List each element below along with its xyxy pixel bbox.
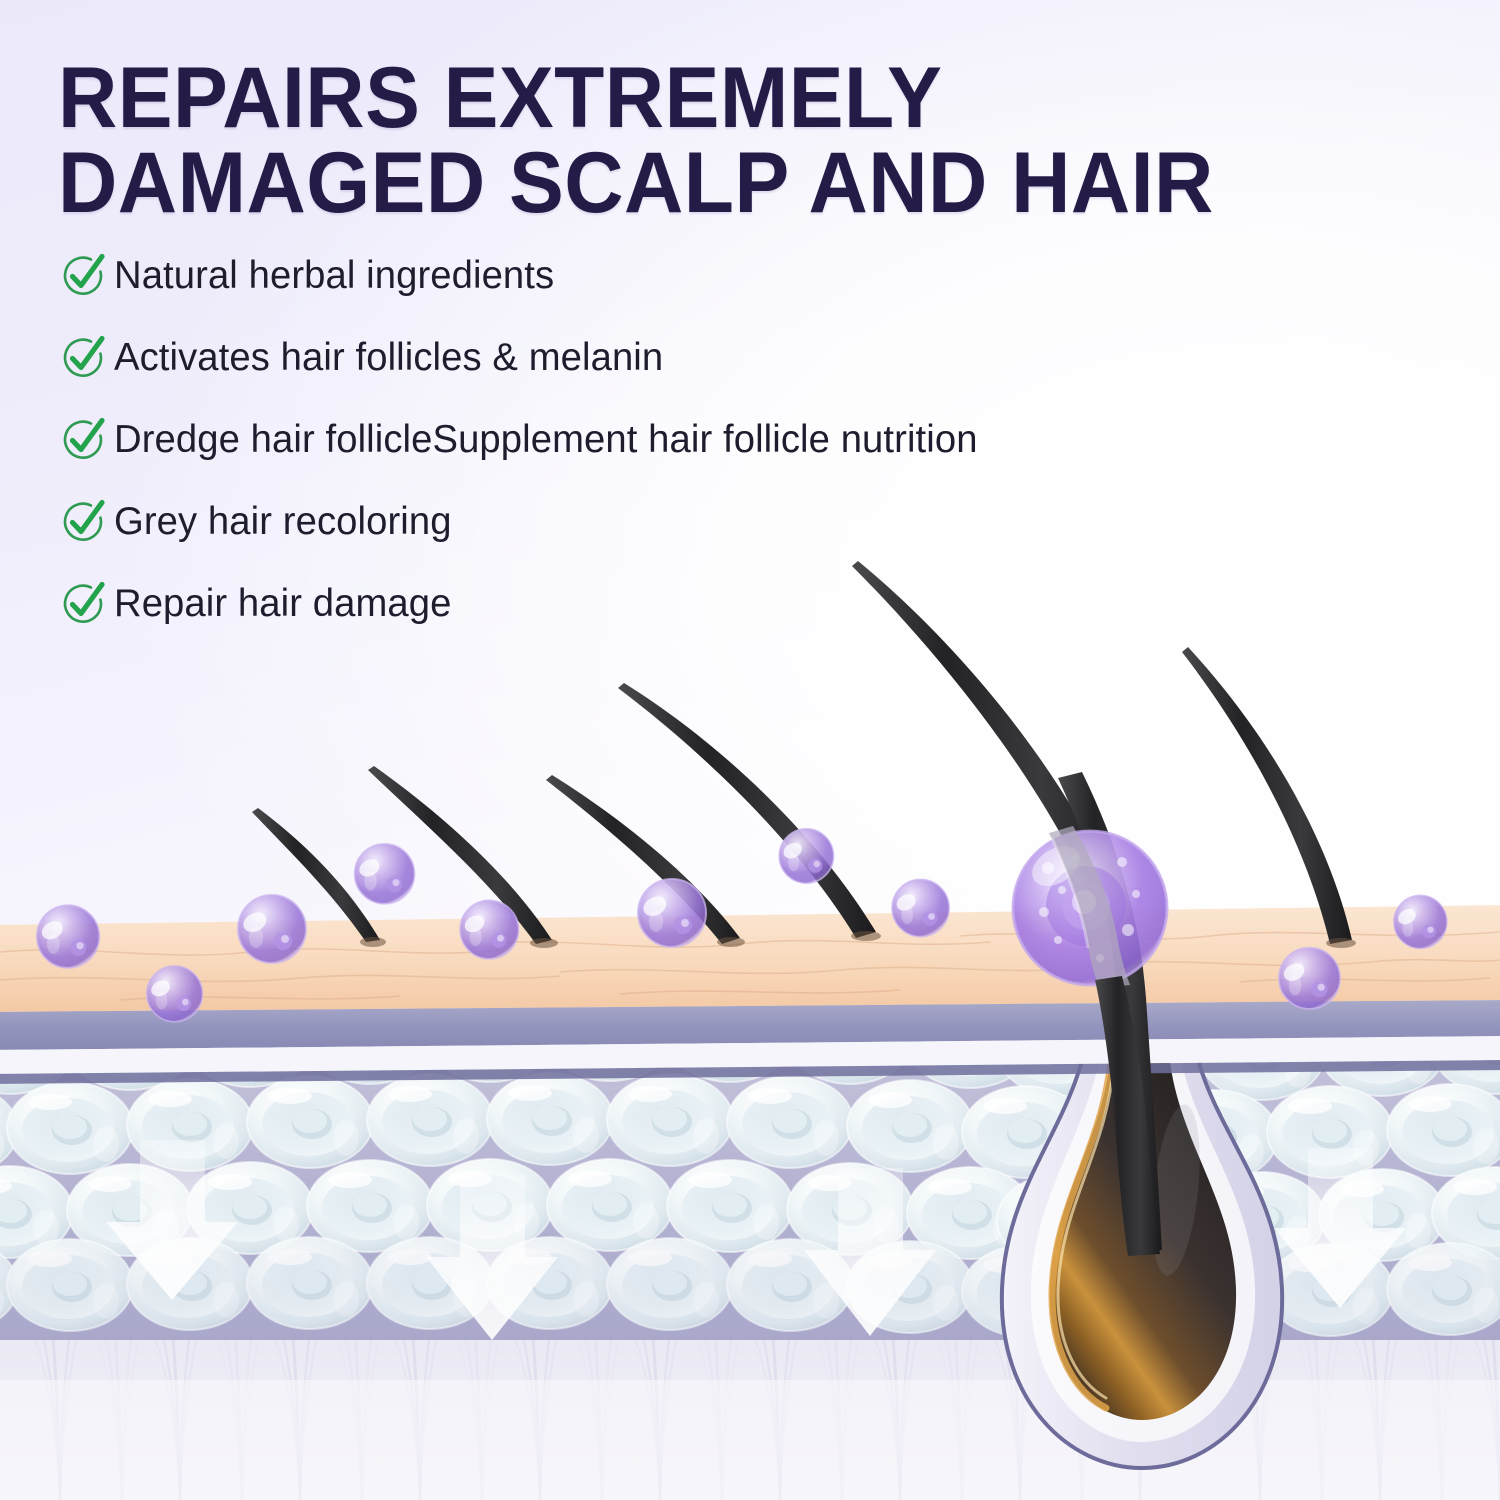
check-circle-icon: [60, 499, 106, 545]
check-circle-icon: [60, 417, 106, 463]
headline-line-1: REPAIRS EXTREMELY: [58, 56, 1280, 141]
check-circle-icon: [60, 253, 106, 299]
benefit-label: Repair hair damage: [114, 582, 451, 626]
list-item: Dredge hair follicleSupplement hair foll…: [60, 419, 1160, 461]
list-item: Grey hair recoloring: [60, 501, 1160, 543]
product-benefit-poster: REPAIRS EXTREMELY DAMAGED SCALP AND HAIR…: [0, 0, 1500, 1500]
benefit-label: Natural herbal ingredients: [114, 254, 554, 298]
benefit-label: Activates hair follicles & melanin: [114, 336, 663, 380]
page-title: REPAIRS EXTREMELY DAMAGED SCALP AND HAIR: [58, 56, 1280, 226]
skin-surface: [0, 905, 1500, 1084]
serum-droplet-large: [1013, 826, 1167, 988]
benefit-label: Dredge hair follicleSupplement hair foll…: [114, 418, 978, 462]
list-item: Natural herbal ingredients: [60, 255, 1160, 297]
headline-line-2: DAMAGED SCALP AND HAIR: [58, 141, 1280, 226]
list-item: Repair hair damage: [60, 583, 1160, 625]
list-item: Activates hair follicles & melanin: [60, 337, 1160, 379]
check-circle-icon: [60, 335, 106, 381]
check-circle-icon: [60, 581, 106, 627]
benefit-label: Grey hair recoloring: [114, 500, 452, 544]
benefit-list: Natural herbal ingredients Activates hai…: [60, 255, 1160, 665]
